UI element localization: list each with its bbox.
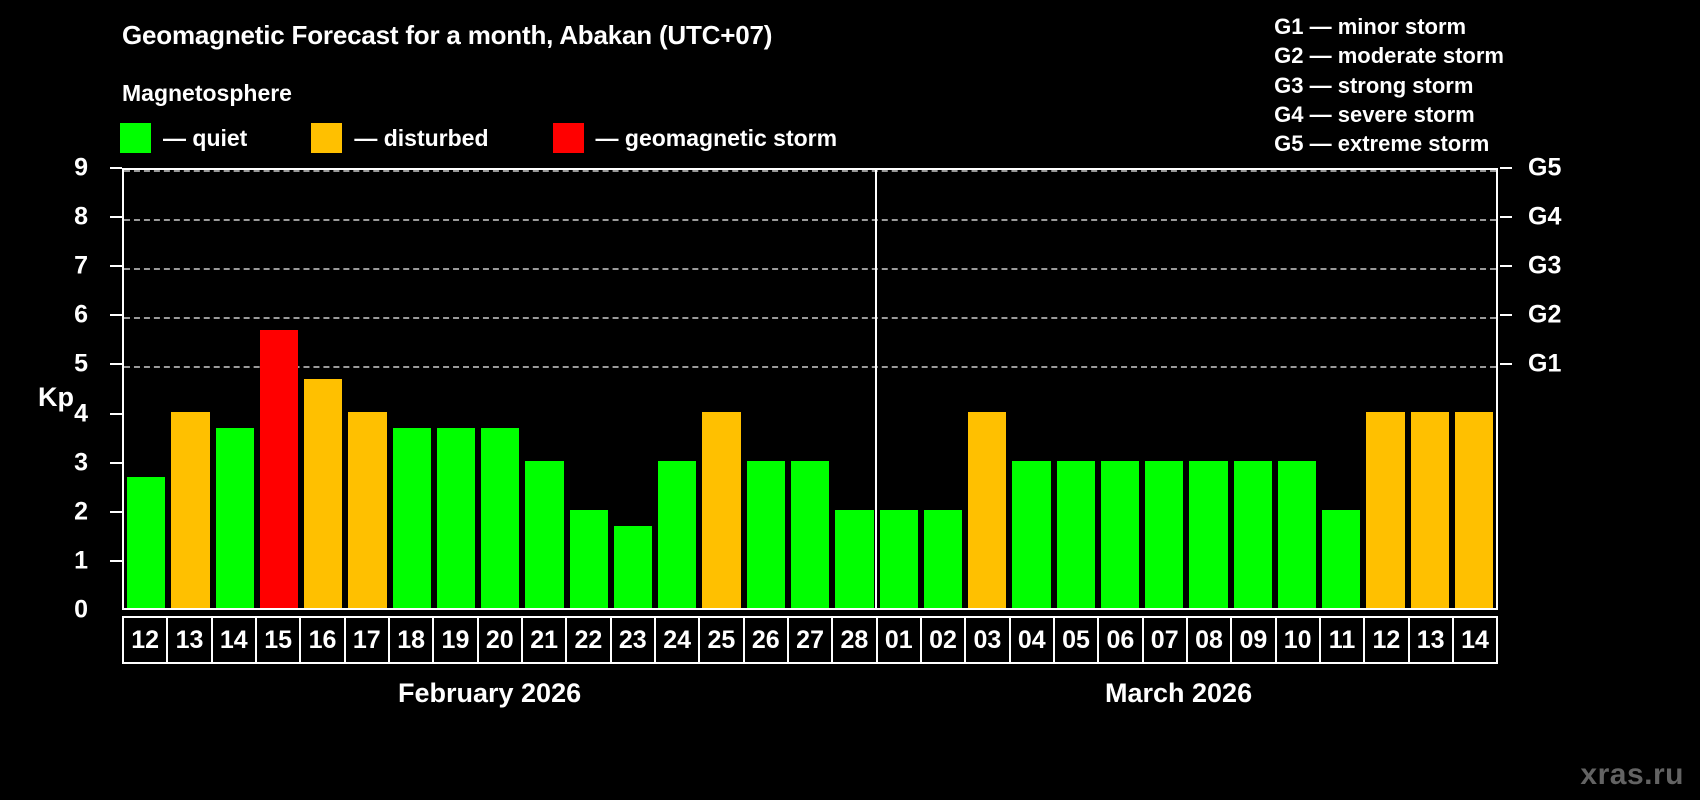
bar-slot — [168, 170, 212, 608]
y-tick-mark-4 — [110, 413, 122, 415]
date-cell-march-07[interactable]: 07 — [1142, 616, 1188, 664]
date-cell-february-27[interactable]: 27 — [787, 616, 833, 664]
legend-item-geomagnetic-storm: — geomagnetic storm — [553, 123, 838, 153]
bar-february-28[interactable] — [835, 510, 873, 608]
bar-february-21[interactable] — [525, 461, 563, 608]
month-label-march: March 2026 — [1105, 678, 1252, 709]
bar-slot — [478, 170, 522, 608]
bar-february-13[interactable] — [171, 412, 209, 608]
bar-march-03[interactable] — [968, 412, 1006, 608]
g-tick-label-g5: G5 — [1528, 154, 1561, 183]
bar-slot — [124, 170, 168, 608]
bar-march-06[interactable] — [1101, 461, 1139, 608]
date-axis: 1213141516171819202122232425262728010203… — [122, 616, 1498, 664]
date-cell-february-12[interactable]: 12 — [122, 616, 168, 664]
bar-slot — [832, 170, 876, 608]
date-cell-march-09[interactable]: 09 — [1230, 616, 1276, 664]
bar-slot — [390, 170, 434, 608]
y-tick-mark-2 — [110, 511, 122, 513]
bar-slot — [257, 170, 301, 608]
bar-february-24[interactable] — [658, 461, 696, 608]
bar-slot — [1009, 170, 1053, 608]
bar-slot — [877, 170, 921, 608]
bar-february-27[interactable] — [791, 461, 829, 608]
y-tick-label-9: 9 — [48, 154, 88, 183]
date-cell-march-02[interactable]: 02 — [920, 616, 966, 664]
bar-slot — [1231, 170, 1275, 608]
bar-slot — [301, 170, 345, 608]
bar-march-13[interactable] — [1411, 412, 1449, 608]
bar-slot — [1275, 170, 1319, 608]
bar-february-22[interactable] — [570, 510, 608, 608]
bar-slot — [611, 170, 655, 608]
bar-march-02[interactable] — [924, 510, 962, 608]
month-divider — [875, 168, 877, 610]
bar-slot — [1408, 170, 1452, 608]
y-tick-label-3: 3 — [48, 448, 88, 477]
y-tick-label-5: 5 — [48, 350, 88, 379]
bar-february-23[interactable] — [614, 526, 652, 608]
bar-slot — [1319, 170, 1363, 608]
date-cell-february-28[interactable]: 28 — [831, 616, 877, 664]
legend-label-quiet: — quiet — [163, 125, 247, 152]
orange-square-icon — [311, 123, 342, 153]
g-tick-label-g2: G2 — [1528, 301, 1561, 330]
bar-february-25[interactable] — [702, 412, 740, 608]
date-cell-march-14[interactable]: 14 — [1452, 616, 1498, 664]
y-tick-mark-9 — [110, 167, 122, 169]
bar-slot — [744, 170, 788, 608]
bar-march-01[interactable] — [880, 510, 918, 608]
bar-slot — [1054, 170, 1098, 608]
y-tick-label-1: 1 — [48, 546, 88, 575]
bar-february-20[interactable] — [481, 428, 519, 608]
date-cell-march-05[interactable]: 05 — [1053, 616, 1099, 664]
bar-march-11[interactable] — [1322, 510, 1360, 608]
y-tick-label-8: 8 — [48, 203, 88, 232]
red-square-icon — [553, 123, 584, 153]
legend-label-disturbed: — disturbed — [354, 125, 488, 152]
y-tick-label-0: 0 — [48, 596, 88, 625]
g-tick-label-g3: G3 — [1528, 252, 1561, 281]
y-tick-label-6: 6 — [48, 301, 88, 330]
date-cell-march-13[interactable]: 13 — [1408, 616, 1454, 664]
date-cell-march-04[interactable]: 04 — [1009, 616, 1055, 664]
bar-slot — [699, 170, 743, 608]
date-cell-february-19[interactable]: 19 — [432, 616, 478, 664]
g-scale-row-g4: G4 — severe storm — [1274, 100, 1504, 129]
bar-march-09[interactable] — [1234, 461, 1272, 608]
bar-slot — [965, 170, 1009, 608]
green-square-icon — [120, 123, 151, 153]
date-cell-march-01[interactable]: 01 — [876, 616, 922, 664]
bar-series — [124, 170, 1496, 608]
g-scale-legend: G1 — minor storm G2 — moderate storm G3 … — [1274, 12, 1504, 158]
date-cell-february-15[interactable]: 15 — [255, 616, 301, 664]
bar-february-16[interactable] — [304, 379, 342, 608]
g-tick-label-g4: G4 — [1528, 203, 1561, 232]
date-cell-february-14[interactable]: 14 — [211, 616, 257, 664]
bar-slot — [788, 170, 832, 608]
bar-slot — [1142, 170, 1186, 608]
bar-march-04[interactable] — [1012, 461, 1050, 608]
date-cell-february-18[interactable]: 18 — [388, 616, 434, 664]
bar-slot — [1098, 170, 1142, 608]
date-cell-february-20[interactable]: 20 — [477, 616, 523, 664]
date-cell-february-26[interactable]: 26 — [743, 616, 789, 664]
bar-slot — [1452, 170, 1496, 608]
bar-slot — [434, 170, 478, 608]
y-tick-mark-5 — [110, 363, 122, 365]
bar-february-26[interactable] — [747, 461, 785, 608]
legend-label-geomagnetic-storm: — geomagnetic storm — [596, 125, 838, 152]
page-title: Geomagnetic Forecast for a month, Abakan… — [122, 20, 772, 51]
g-tick-mark-g5 — [1500, 167, 1512, 169]
bar-slot — [213, 170, 257, 608]
bar-march-07[interactable] — [1145, 461, 1183, 608]
bar-march-12[interactable] — [1366, 412, 1404, 608]
date-cell-february-13[interactable]: 13 — [166, 616, 212, 664]
y-tick-label-2: 2 — [48, 497, 88, 526]
y-tick-mark-6 — [110, 314, 122, 316]
g-scale-row-g1: G1 — minor storm — [1274, 12, 1504, 41]
bar-february-19[interactable] — [437, 428, 475, 608]
legend-item-quiet: — quiet — [120, 123, 247, 153]
y-tick-mark-8 — [110, 216, 122, 218]
bar-february-18[interactable] — [393, 428, 431, 608]
g-tick-mark-g2 — [1500, 314, 1512, 316]
bar-february-12[interactable] — [127, 477, 165, 608]
bar-march-10[interactable] — [1278, 461, 1316, 608]
date-cell-february-23[interactable]: 23 — [610, 616, 656, 664]
g-tick-mark-g4 — [1500, 216, 1512, 218]
g-scale-row-g2: G2 — moderate storm — [1274, 41, 1504, 70]
watermark: xras.ru — [1580, 758, 1684, 792]
y-tick-mark-3 — [110, 462, 122, 464]
y-tick-mark-7 — [110, 265, 122, 267]
bar-february-17[interactable] — [348, 412, 386, 608]
plot-area — [122, 168, 1498, 610]
date-cell-march-10[interactable]: 10 — [1275, 616, 1321, 664]
month-label-february: February 2026 — [398, 678, 581, 709]
bar-slot — [655, 170, 699, 608]
bar-march-05[interactable] — [1057, 461, 1095, 608]
bar-slot — [345, 170, 389, 608]
bar-slot — [1363, 170, 1407, 608]
g-tick-mark-g1 — [1500, 363, 1512, 365]
y-tick-label-7: 7 — [48, 252, 88, 281]
bar-february-15[interactable] — [260, 330, 298, 608]
g-scale-row-g3: G3 — strong storm — [1274, 71, 1504, 100]
date-cell-march-12[interactable]: 12 — [1363, 616, 1409, 664]
bar-february-14[interactable] — [216, 428, 254, 608]
bar-slot — [1186, 170, 1230, 608]
y-tick-label-4: 4 — [48, 399, 88, 428]
bar-slot — [567, 170, 611, 608]
legend: — quiet — disturbed — geomagnetic storm — [120, 123, 837, 153]
magnetosphere-section-label: Magnetosphere — [122, 80, 292, 107]
date-cell-february-24[interactable]: 24 — [654, 616, 700, 664]
legend-item-disturbed: — disturbed — [311, 123, 488, 153]
bar-slot — [522, 170, 566, 608]
bar-march-08[interactable] — [1189, 461, 1227, 608]
date-cell-february-25[interactable]: 25 — [698, 616, 744, 664]
date-cell-february-22[interactable]: 22 — [565, 616, 611, 664]
g-scale-row-g5: G5 — extreme storm — [1274, 129, 1504, 158]
date-cell-march-06[interactable]: 06 — [1097, 616, 1143, 664]
bar-march-14[interactable] — [1455, 412, 1493, 608]
date-cell-february-17[interactable]: 17 — [344, 616, 390, 664]
bar-slot — [921, 170, 965, 608]
g-tick-label-g1: G1 — [1528, 350, 1561, 379]
date-cell-february-16[interactable]: 16 — [299, 616, 345, 664]
date-cell-march-03[interactable]: 03 — [964, 616, 1010, 664]
date-cell-march-08[interactable]: 08 — [1186, 616, 1232, 664]
y-tick-mark-1 — [110, 560, 122, 562]
date-cell-february-21[interactable]: 21 — [521, 616, 567, 664]
g-tick-mark-g3 — [1500, 265, 1512, 267]
date-cell-march-11[interactable]: 11 — [1319, 616, 1365, 664]
